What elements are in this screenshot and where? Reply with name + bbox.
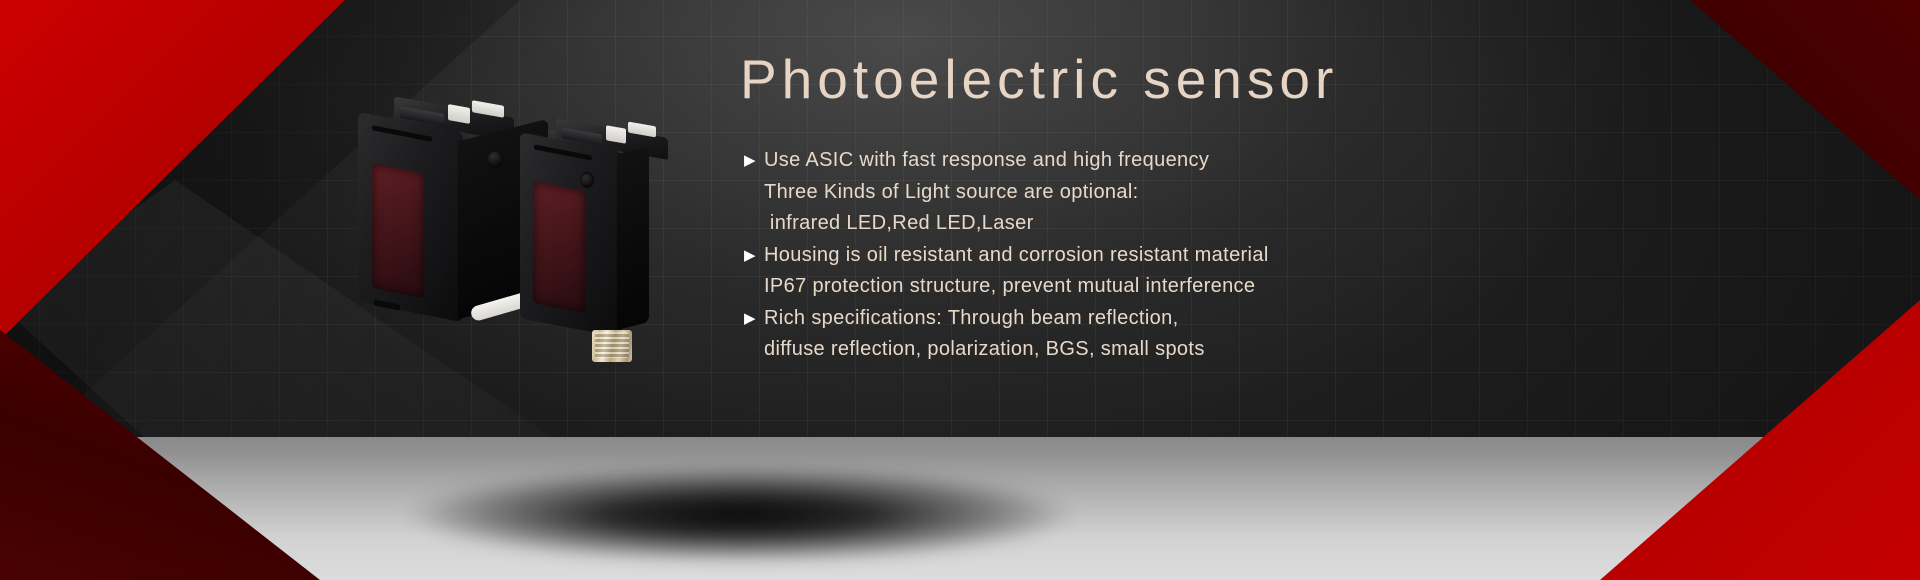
sensor-right-lens-window [533,181,585,313]
sensor-right-side-housing [617,146,649,330]
bullet-spacer: ▶ [740,208,764,240]
feature-line: ▶ Three Kinds of Light source are option… [740,177,1840,209]
bullet-triangle-icon: ▶ [740,303,764,335]
page-title: Photoelectric sensor [740,52,1840,107]
bullet-triangle-icon: ▶ [740,145,764,177]
feature-line: ▶ Housing is oil resistant and corrosion… [740,240,1840,272]
feature-line: ▶ IP67 protection structure, prevent mut… [740,271,1840,303]
feature-text: IP67 protection structure, prevent mutua… [764,271,1255,303]
feature-text: Housing is oil resistant and corrosion r… [764,240,1269,272]
feature-item-3: ▶ Rich specifications: Through beam refl… [740,303,1840,366]
bullet-triangle-icon: ▶ [740,240,764,272]
product-banner: Photoelectric sensor ▶ Use ASIC with fas… [0,0,1920,580]
feature-line: ▶ Use ASIC with fast response and high f… [740,145,1840,177]
feature-text: diffuse reflection, polarization, BGS, s… [764,334,1205,366]
sensor-right-connector-threads [595,332,629,358]
bullet-spacer: ▶ [740,271,764,303]
bullet-spacer: ▶ [740,177,764,209]
feature-list: ▶ Use ASIC with fast response and high f… [740,145,1840,366]
feature-line: ▶ diffuse reflection, polarization, BGS,… [740,334,1840,366]
feature-text: Use ASIC with fast response and high fre… [764,145,1209,177]
bullet-spacer: ▶ [740,334,764,366]
feature-line: ▶ Rich specifications: Through beam refl… [740,303,1840,335]
feature-item-2: ▶ Housing is oil resistant and corrosion… [740,240,1840,303]
sensor-left-mounting-hole [487,150,503,168]
banner-text-content: Photoelectric sensor ▶ Use ASIC with fas… [740,52,1840,366]
feature-text: infrared LED,Red LED,Laser [764,208,1034,240]
feature-text: Three Kinds of Light source are optional… [764,177,1139,209]
sensor-left-lens-window [372,163,424,298]
sensor-right-mounting-hole [580,172,594,188]
feature-item-1: ▶ Use ASIC with fast response and high f… [740,145,1840,240]
feature-line: ▶ infrared LED,Red LED,Laser [740,208,1840,240]
feature-text: Rich specifications: Through beam reflec… [764,303,1178,335]
